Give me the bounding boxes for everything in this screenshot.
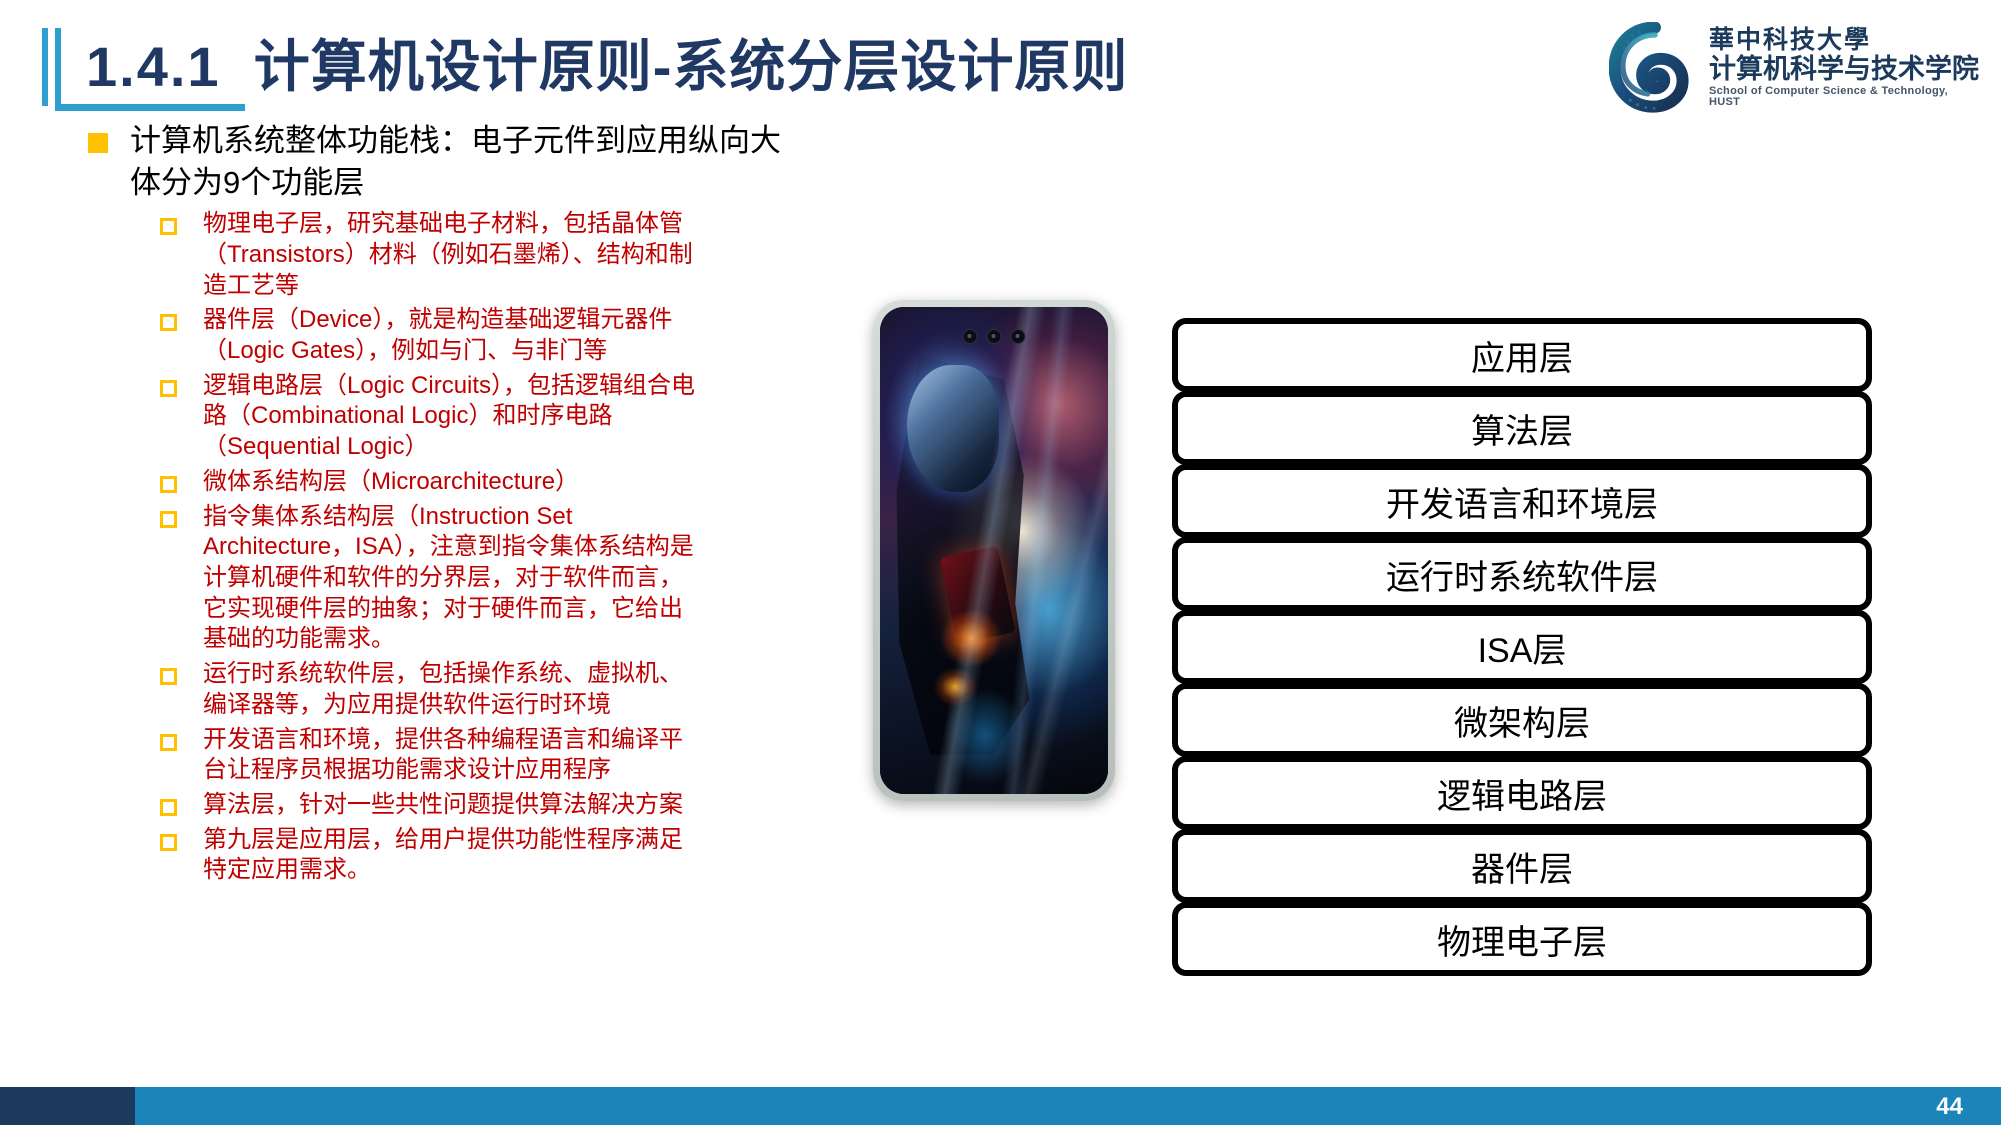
sub-bullet-text: 物理电子层，研究基础电子材料，包括晶体管（Transistors）材料（例如石墨… [203,209,703,301]
sub-bullet-text: 逻辑电路层（Logic Circuits），包括逻辑组合电路（Combinati… [203,371,703,463]
bullet-content: 计算机系统整体功能栈：电子元件到应用纵向大体分为9个功能层 物理电子层，研究基础… [0,120,860,890]
layer-box-runtime-system-software: 运行时系统软件层 [1172,537,1872,611]
hollow-square-bullet-icon [160,314,177,331]
sub-bullet-item: 器件层（Device），就是构造基础逻辑元器件（Logic Gates），例如与… [160,305,860,366]
sub-bullet-item: 算法层，针对一些共性问题提供算法解决方案 [160,790,860,821]
sub-bullet-item: 运行时系统软件层，包括操作系统、虚拟机、编译器等，为应用提供软件运行时环境 [160,659,860,720]
title-number: 1.4.1 [86,35,221,98]
sub-bullet-text: 运行时系统软件层，包括操作系统、虚拟机、编译器等，为应用提供软件运行时环境 [203,659,703,720]
camera-lens-icon [963,329,978,344]
footer-bar-right-segment [135,1087,2001,1125]
layer-box-isa: ISA层 [1172,610,1872,684]
hollow-square-bullet-icon [160,799,177,816]
camera-lens-icon [987,329,1002,344]
logo-school-name-en: School of Computer Science & Technology,… [1709,86,1981,108]
hollow-square-bullet-icon [160,380,177,397]
hollow-square-bullet-icon [160,834,177,851]
layer-box-application: 应用层 [1172,318,1872,392]
title-label: 计算机设计原则-系统分层设计原则 [254,35,1129,98]
smartphone-illustration [873,300,1115,801]
phone-camera-row [963,329,1026,344]
layer-box-microarchitecture: 微架构层 [1172,683,1872,757]
hollow-square-bullet-icon [160,668,177,685]
sub-bullet-item: 物理电子层，研究基础电子材料，包括晶体管（Transistors）材料（例如石墨… [160,209,860,301]
sub-bullet-item: 微体系结构层（Microarchitecture） [160,467,860,498]
sub-bullet-text: 开发语言和环境，提供各种编程语言和编译平台让程序员根据功能需求设计应用程序 [203,725,703,786]
layer-box-device: 器件层 [1172,829,1872,903]
layer-stack-diagram: 应用层 算法层 开发语言和环境层 运行时系统软件层 ISA层 微架构层 逻辑电路… [1172,318,1872,975]
layer-box-dev-language-env: 开发语言和环境层 [1172,464,1872,538]
footer-bar-left-segment [0,1087,135,1125]
sub-bullet-text: 器件层（Device），就是构造基础逻辑元器件（Logic Gates），例如与… [203,305,703,366]
layer-box-logic-circuit: 逻辑电路层 [1172,756,1872,830]
hust-swirl-icon [1609,22,1701,114]
logo-university-name: 華中科技大學 [1709,28,1981,53]
layer-box-algorithm: 算法层 [1172,391,1872,465]
hollow-square-bullet-icon [160,476,177,493]
sub-bullet-item: 逻辑电路层（Logic Circuits），包括逻辑组合电路（Combinati… [160,371,860,463]
title-underline [55,104,245,111]
phone-screen [880,307,1108,794]
hollow-square-bullet-icon [160,734,177,751]
logo-text: 華中科技大學 计算机科学与技术学院 School of Computer Sci… [1709,28,1981,108]
sub-bullet-text: 第九层是应用层，给用户提供功能性程序满足特定应用需求。 [203,825,703,886]
square-bullet-icon [88,133,108,153]
sub-bullet-text: 算法层，针对一些共性问题提供算法解决方案 [203,790,683,821]
page-title: 1.4.1 计算机设计原则-系统分层设计原则 [86,22,1128,103]
hollow-square-bullet-icon [160,511,177,528]
sub-bullet-text: 指令集体系结构层（Instruction Set Architecture，IS… [203,502,703,656]
layer-box-physical-electronics: 物理电子层 [1172,902,1872,976]
footer-bar [0,1087,2001,1125]
sub-bullet-item: 指令集体系结构层（Instruction Set Architecture，IS… [160,502,860,656]
page-number: 44 [1936,1093,1963,1121]
hust-logo: 華中科技大學 计算机科学与技术学院 School of Computer Sci… [1609,22,1981,114]
sub-bullet-item: 开发语言和环境，提供各种编程语言和编译平台让程序员根据功能需求设计应用程序 [160,725,860,786]
camera-lens-icon [1011,329,1026,344]
logo-school-name: 计算机科学与技术学院 [1709,56,1981,83]
sub-bullet-item: 第九层是应用层，给用户提供功能性程序满足特定应用需求。 [160,825,860,886]
main-bullet-text: 计算机系统整体功能栈：电子元件到应用纵向大体分为9个功能层 [130,120,790,203]
main-bullet-item: 计算机系统整体功能栈：电子元件到应用纵向大体分为9个功能层 [88,120,860,203]
hollow-square-bullet-icon [160,218,177,235]
sub-bullet-text: 微体系结构层（Microarchitecture） [203,467,579,498]
title-accent-bars [42,28,76,106]
slide-root: 1.4.1 计算机设计原则-系统分层设计原则 [0,0,2001,1125]
